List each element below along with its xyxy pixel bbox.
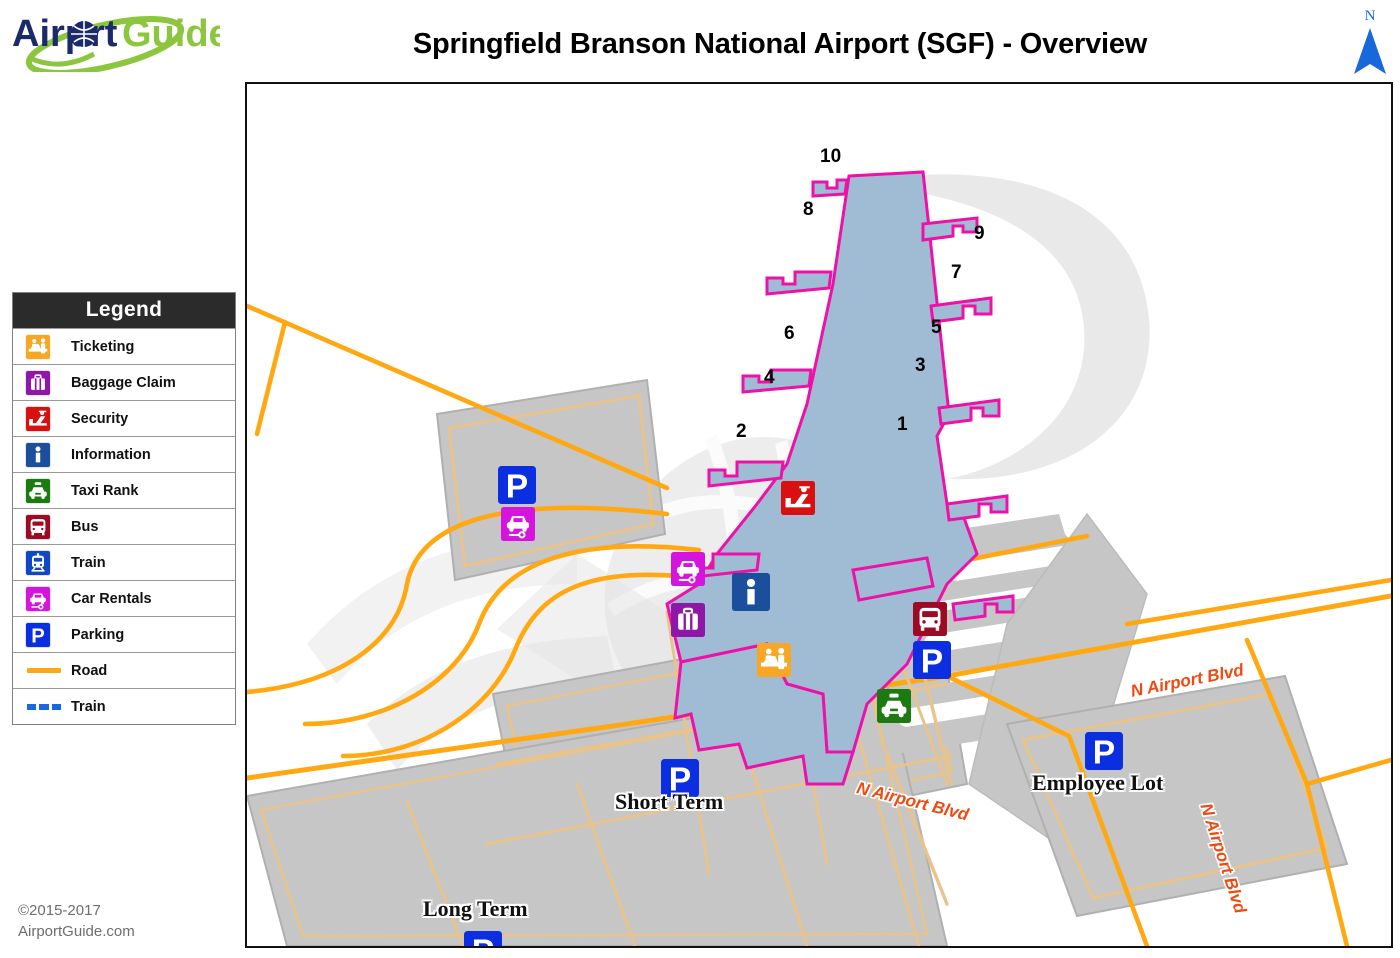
airport-map[interactable]: 10 8 6 4 2 9 7 5 3 1 bbox=[245, 82, 1393, 948]
parking-icon: P bbox=[25, 622, 71, 648]
bus-icon bbox=[25, 514, 71, 540]
gate-label-8: 8 bbox=[803, 199, 814, 221]
legend-item-security[interactable]: Security bbox=[13, 400, 235, 436]
parking-label-long-term: Long Term bbox=[423, 896, 528, 922]
legend-label: Taxi Rank bbox=[71, 483, 138, 499]
north-compass: N bbox=[1348, 8, 1392, 78]
legend-label: Security bbox=[71, 411, 128, 427]
legend-label: Baggage Claim bbox=[71, 375, 176, 391]
legend-item-information[interactable]: Information bbox=[13, 436, 235, 472]
legend-label: Car Rentals bbox=[71, 591, 152, 607]
ticketing-icon bbox=[25, 334, 71, 360]
svg-text:P: P bbox=[472, 933, 494, 948]
parking-label-short-term: Short Term bbox=[615, 789, 723, 815]
legend-item-car-rentals[interactable]: Car Rentals bbox=[13, 580, 235, 616]
svg-text:P: P bbox=[506, 468, 528, 504]
taxi-rank-icon bbox=[25, 478, 71, 504]
legend-panel: Legend Ticketing Baggage Claim bbox=[12, 292, 236, 725]
svg-text:P: P bbox=[1093, 734, 1115, 770]
legend-label: Train bbox=[71, 699, 106, 715]
svg-text:P: P bbox=[31, 625, 45, 647]
compass-north-label: N bbox=[1348, 8, 1392, 25]
legend-item-road[interactable]: Road bbox=[13, 652, 235, 688]
ticketing-icon[interactable] bbox=[757, 643, 791, 677]
legend-heading: Legend bbox=[13, 293, 235, 328]
legend-item-bus[interactable]: Bus bbox=[13, 508, 235, 544]
security-icon bbox=[25, 406, 71, 432]
copyright-line-1: ©2015-2017 bbox=[18, 900, 135, 921]
gate-label-10: 10 bbox=[820, 146, 841, 168]
legend-item-ticketing[interactable]: Ticketing bbox=[13, 328, 235, 364]
information-icon[interactable] bbox=[732, 573, 770, 611]
copyright-line-2: AirportGuide.com bbox=[18, 921, 135, 942]
gate-label-7: 7 bbox=[951, 262, 962, 284]
legend-label: Parking bbox=[71, 627, 124, 643]
parking-icon-employee-lot[interactable]: P bbox=[1085, 732, 1123, 770]
security-icon[interactable] bbox=[781, 481, 815, 515]
legend-item-train-line[interactable]: Train bbox=[13, 688, 235, 724]
legend-label: Train bbox=[71, 555, 106, 571]
gate-label-2: 2 bbox=[736, 421, 747, 443]
legend-item-parking[interactable]: P Parking bbox=[13, 616, 235, 652]
legend-label: Bus bbox=[71, 519, 98, 535]
gate-label-5: 5 bbox=[931, 317, 942, 339]
train-line-icon bbox=[25, 704, 71, 710]
gate-label-9: 9 bbox=[974, 223, 985, 245]
gate-label-1: 1 bbox=[897, 414, 908, 436]
copyright-notice: ©2015-2017 AirportGuide.com bbox=[18, 900, 135, 942]
airportguide-logo[interactable]: Airp rt Guide bbox=[10, 2, 220, 72]
car-rentals-icon bbox=[25, 586, 71, 612]
parking-label-employee-lot: Employee Lot bbox=[1032, 770, 1163, 796]
gate-label-4: 4 bbox=[764, 367, 775, 389]
parking-icon-northwest[interactable]: P bbox=[498, 466, 536, 504]
gate-label-3: 3 bbox=[915, 355, 926, 377]
legend-label: Ticketing bbox=[71, 339, 134, 355]
legend-item-train[interactable]: Train bbox=[13, 544, 235, 580]
svg-text:P: P bbox=[921, 643, 943, 679]
svg-text:Guide: Guide bbox=[122, 13, 220, 55]
road-line-icon bbox=[25, 668, 71, 673]
car-rentals-icon[interactable] bbox=[671, 552, 705, 586]
legend-label: Road bbox=[71, 663, 107, 679]
car-rentals-icon-northwest[interactable] bbox=[501, 507, 535, 541]
parking-icon-curbside[interactable]: P bbox=[913, 641, 951, 679]
page-title: Springfield Branson National Airport (SG… bbox=[250, 28, 1310, 61]
information-icon bbox=[25, 442, 71, 468]
gate-label-6: 6 bbox=[784, 323, 795, 345]
taxi-rank-icon[interactable] bbox=[877, 689, 911, 723]
baggage-claim-icon[interactable] bbox=[671, 603, 705, 637]
train-icon bbox=[25, 550, 71, 576]
bus-icon[interactable] bbox=[913, 602, 947, 636]
legend-label: Information bbox=[71, 447, 151, 463]
legend-item-taxi-rank[interactable]: Taxi Rank bbox=[13, 472, 235, 508]
legend-item-baggage-claim[interactable]: Baggage Claim bbox=[13, 364, 235, 400]
parking-icon-long-term[interactable]: P bbox=[464, 931, 502, 948]
baggage-claim-icon bbox=[25, 370, 71, 396]
